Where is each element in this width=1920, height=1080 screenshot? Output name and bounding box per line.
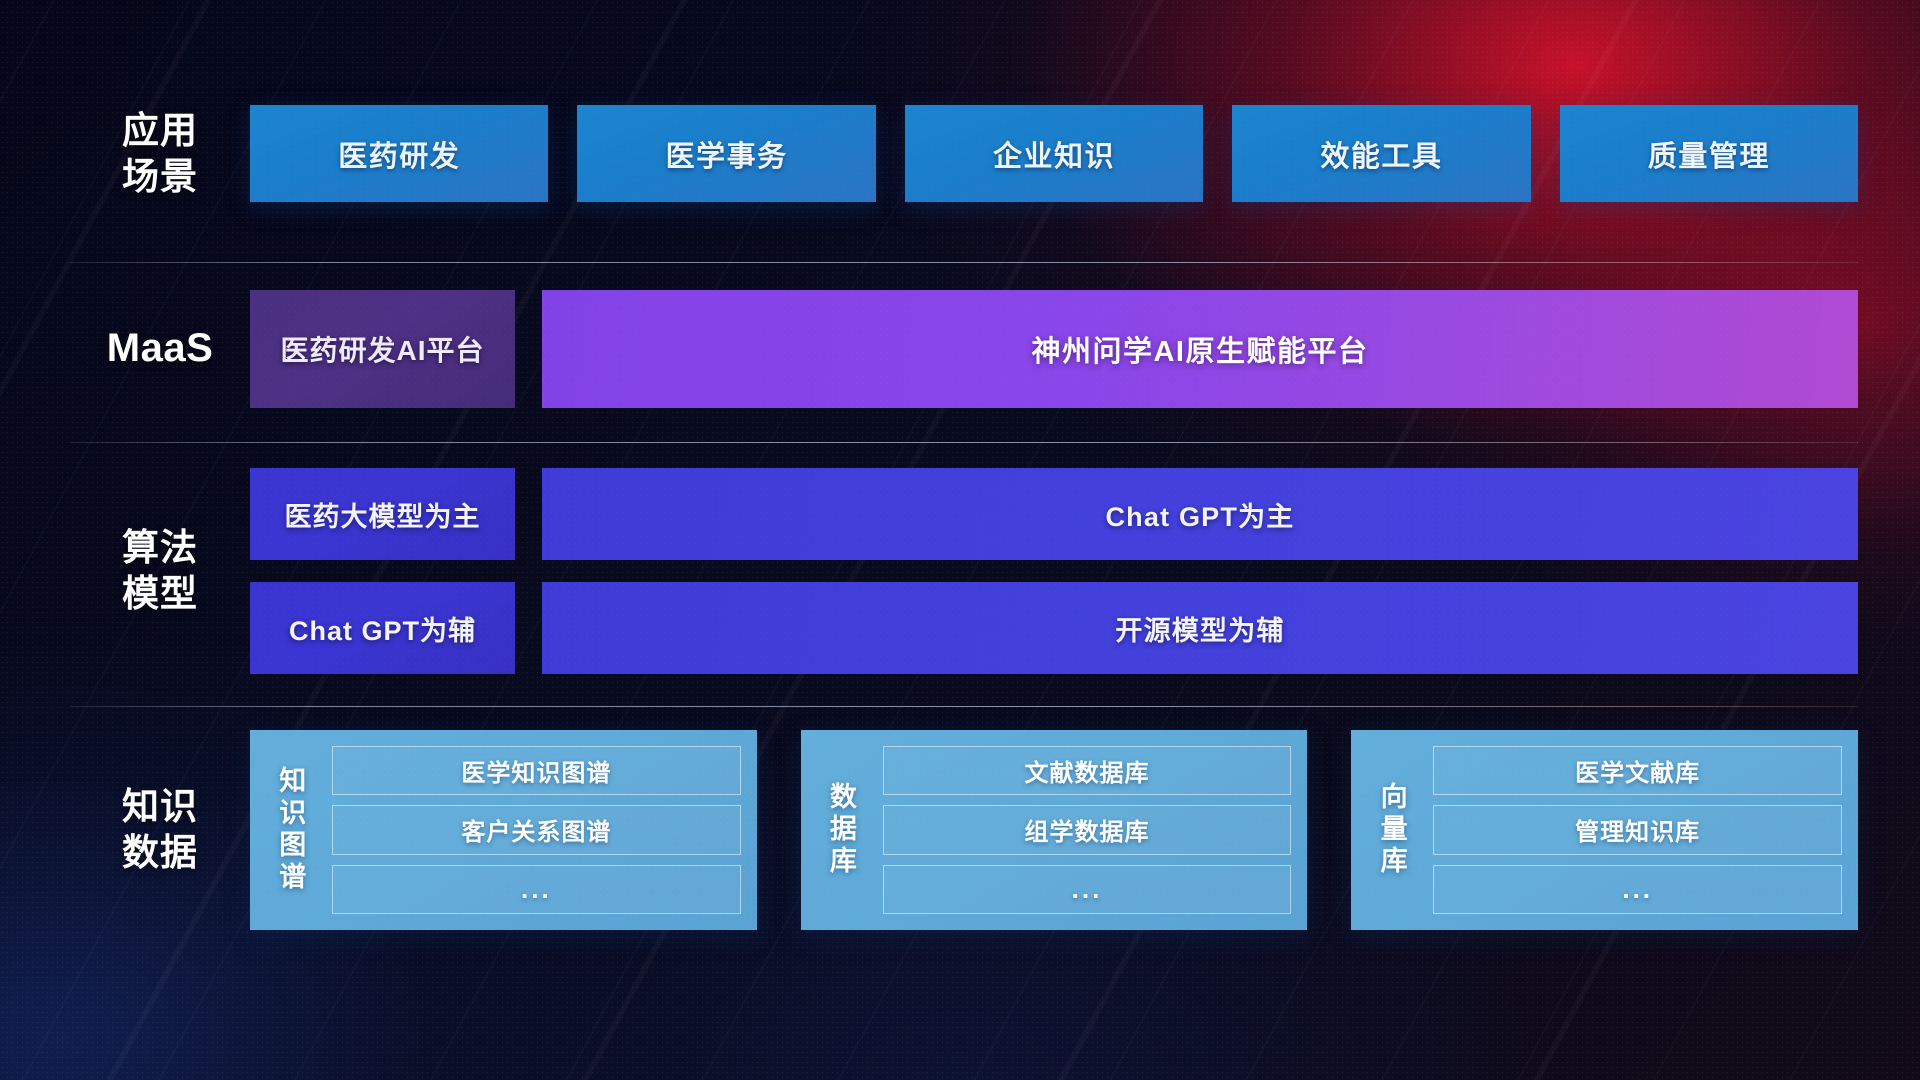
knowledge-item-omics-db[interactable]: 组学数据库 xyxy=(883,805,1292,854)
knowledge-panel-database-title: 数 据 库 xyxy=(815,746,873,914)
knowledge-item-medical-literature[interactable]: 医学文献库 xyxy=(1433,746,1842,795)
title-char: 数 xyxy=(830,782,858,814)
knowledge-panel-vector: 向 量 库 医学文献库 管理知识库 ... xyxy=(1351,730,1858,930)
knowledge-panel-graph-title: 知 识 图 谱 xyxy=(264,746,322,914)
row-label-line-1: 应用 xyxy=(70,108,250,154)
row-label-line-2: 数据 xyxy=(70,830,250,876)
algorithm-row-secondary: Chat GPT为辅 开源模型为辅 xyxy=(250,582,1858,674)
knowledge-panel-vector-title: 向 量 库 xyxy=(1365,746,1423,914)
row-label-line-2: 场景 xyxy=(70,154,250,200)
title-char: 据 xyxy=(830,814,858,846)
app-card-efficiency-tools[interactable]: 效能工具 xyxy=(1232,105,1530,202)
title-char: 识 xyxy=(279,798,307,830)
divider-maas-algo xyxy=(70,442,1858,443)
row-label-application-scenarios: 应用 场景 xyxy=(70,108,250,200)
row-label-line-1: 算法 xyxy=(70,525,250,571)
app-card-quality-management[interactable]: 质量管理 xyxy=(1560,105,1858,202)
row-application-scenarios: 应用 场景 医药研发 医学事务 企业知识 效能工具 质量管理 xyxy=(70,105,1858,202)
knowledge-panel-vector-items: 医学文献库 管理知识库 ... xyxy=(1433,746,1842,914)
title-char: 库 xyxy=(830,846,858,878)
title-char: 向 xyxy=(1381,782,1409,814)
row-maas: MaaS 医药研发AI平台 神州问学AI原生赋能平台 xyxy=(70,290,1858,408)
divider-apps-maas xyxy=(70,262,1858,263)
algorithm-row-primary: 医药大模型为主 Chat GPT为主 xyxy=(250,468,1858,560)
row-knowledge-data: 知识 数据 知 识 图 谱 医学知识图谱 客户关系图谱 ... xyxy=(70,730,1858,930)
diagram-canvas: 应用 场景 医药研发 医学事务 企业知识 效能工具 质量管理 MaaS 医药研发… xyxy=(0,0,1920,1080)
maas-card-list: 医药研发AI平台 神州问学AI原生赋能平台 xyxy=(250,290,1858,408)
knowledge-panel-database-items: 文献数据库 组学数据库 ... xyxy=(883,746,1292,914)
knowledge-item-medical-graph[interactable]: 医学知识图谱 xyxy=(332,746,741,795)
title-char: 图 xyxy=(279,830,307,862)
row-label-line-1: 知识 xyxy=(70,784,250,830)
algo-card-opensource-secondary[interactable]: 开源模型为辅 xyxy=(542,582,1858,674)
app-card-enterprise-knowledge[interactable]: 企业知识 xyxy=(905,105,1203,202)
knowledge-item-more-graph[interactable]: ... xyxy=(332,865,741,914)
application-card-list: 医药研发 医学事务 企业知识 效能工具 质量管理 xyxy=(250,105,1858,202)
title-char: 知 xyxy=(279,766,307,798)
knowledge-panel-database: 数 据 库 文献数据库 组学数据库 ... xyxy=(801,730,1308,930)
knowledge-panel-graph-items: 医学知识图谱 客户关系图谱 ... xyxy=(332,746,741,914)
knowledge-item-literature-db[interactable]: 文献数据库 xyxy=(883,746,1292,795)
app-card-medical-affairs[interactable]: 医学事务 xyxy=(577,105,875,202)
knowledge-panel-graph: 知 识 图 谱 医学知识图谱 客户关系图谱 ... xyxy=(250,730,757,930)
algo-card-medical-llm-primary[interactable]: 医药大模型为主 xyxy=(250,468,515,560)
maas-card-shenzhou-wenxue-platform[interactable]: 神州问学AI原生赋能平台 xyxy=(542,290,1858,408)
maas-card-drug-rd-ai-platform[interactable]: 医药研发AI平台 xyxy=(250,290,515,408)
algo-card-chatgpt-primary[interactable]: Chat GPT为主 xyxy=(542,468,1858,560)
knowledge-panel-list: 知 识 图 谱 医学知识图谱 客户关系图谱 ... 数 据 xyxy=(250,730,1858,930)
row-label-line-2: 模型 xyxy=(70,571,250,617)
row-label-maas: MaaS xyxy=(70,324,250,374)
algorithm-card-grid: 医药大模型为主 Chat GPT为主 Chat GPT为辅 开源模型为辅 xyxy=(250,468,1858,674)
divider-algo-knowledge xyxy=(70,706,1858,707)
algo-card-chatgpt-secondary[interactable]: Chat GPT为辅 xyxy=(250,582,515,674)
row-label-algorithm-models: 算法 模型 xyxy=(70,525,250,617)
title-char: 库 xyxy=(1381,846,1409,878)
knowledge-item-customer-graph[interactable]: 客户关系图谱 xyxy=(332,805,741,854)
app-card-drug-rd[interactable]: 医药研发 xyxy=(250,105,548,202)
knowledge-item-more-vector[interactable]: ... xyxy=(1433,865,1842,914)
knowledge-item-management-knowledge[interactable]: 管理知识库 xyxy=(1433,805,1842,854)
row-label-knowledge-data: 知识 数据 xyxy=(70,784,250,876)
title-char: 谱 xyxy=(279,862,307,894)
title-char: 量 xyxy=(1381,814,1409,846)
row-algorithm-models: 算法 模型 医药大模型为主 Chat GPT为主 Chat GPT为辅 开源模型… xyxy=(70,468,1858,674)
knowledge-item-more-db[interactable]: ... xyxy=(883,865,1292,914)
